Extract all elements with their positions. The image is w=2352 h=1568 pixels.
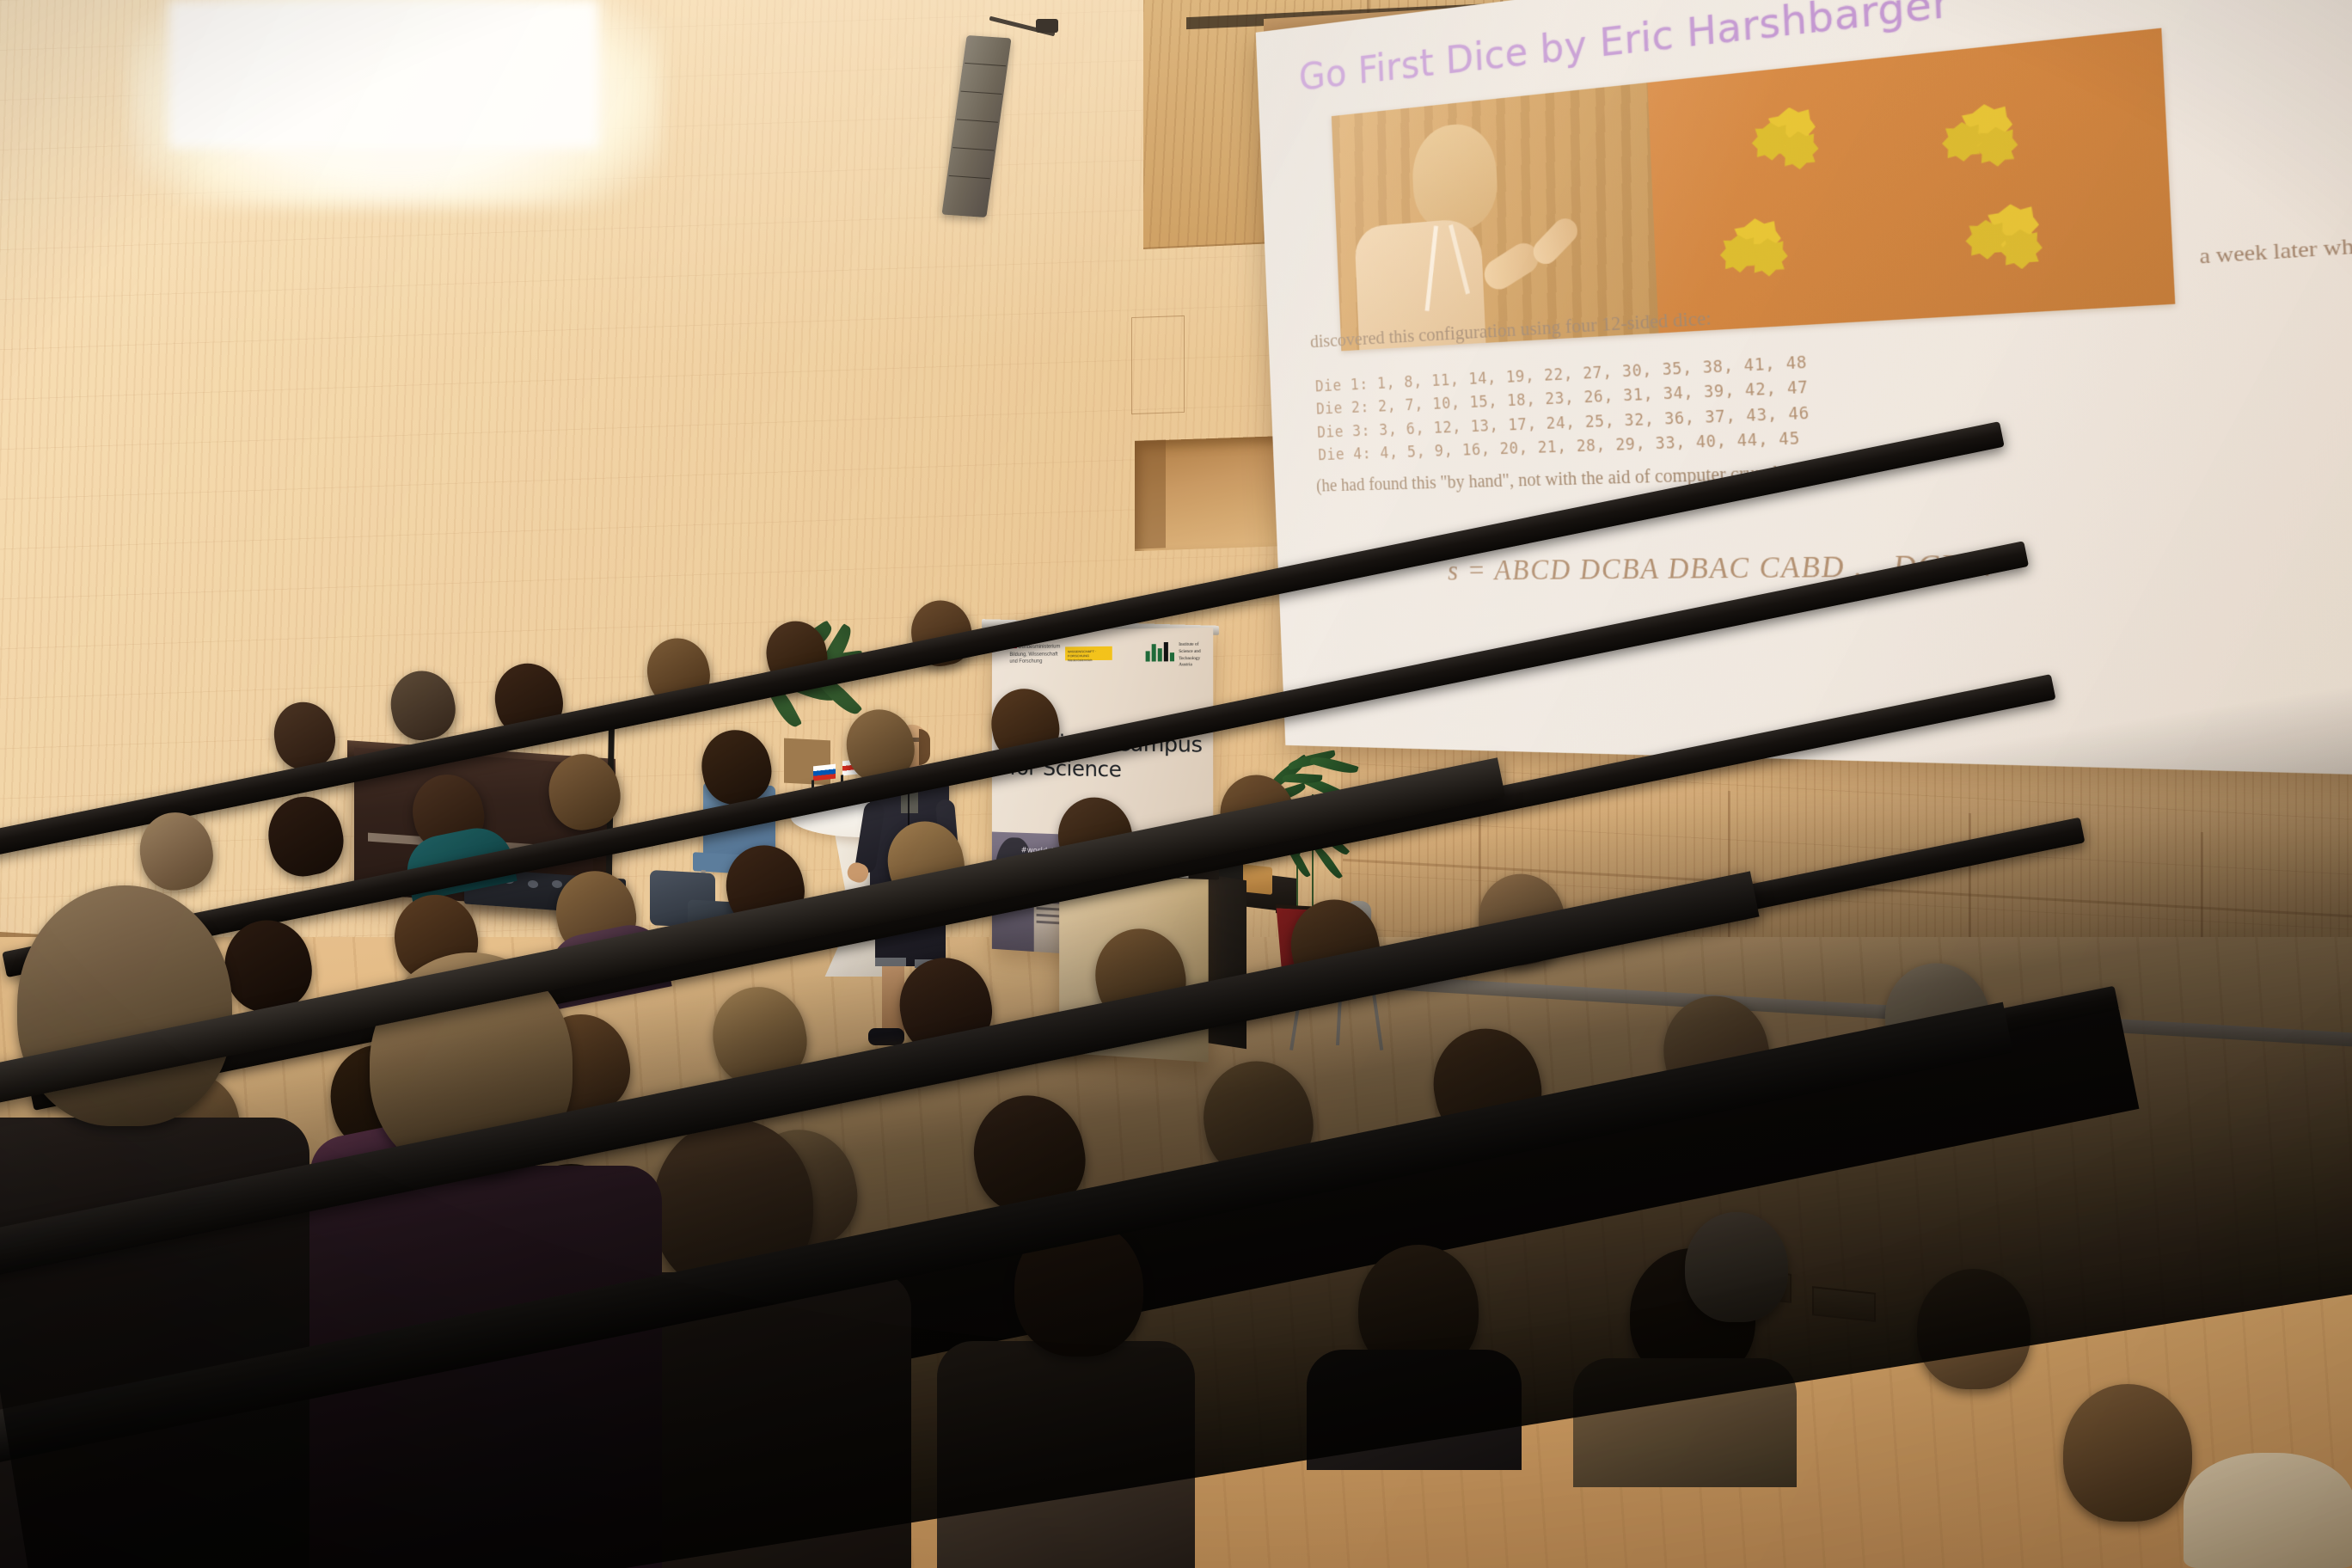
- straw-hat: [2184, 1453, 2352, 1568]
- slide-photo-dice: [1648, 28, 2176, 334]
- speaker-mount-bracket: [1036, 19, 1058, 33]
- lecture-hall-scene: Go First Dice by Eric Harshbarger: [0, 0, 2352, 1568]
- wall-access-panel: [1131, 315, 1185, 414]
- slide-caption-right: a week later when Robert: [2199, 227, 2352, 270]
- slide-photo-person: [1332, 83, 1659, 351]
- window-light-patch: [168, 0, 598, 148]
- foreground-person: [937, 1341, 1195, 1568]
